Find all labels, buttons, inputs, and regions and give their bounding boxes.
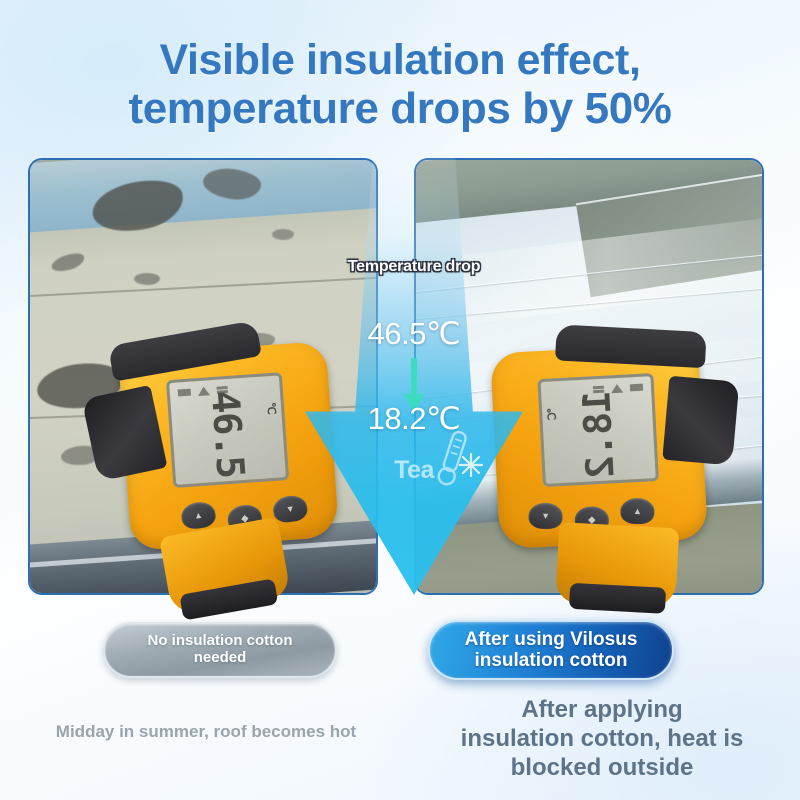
roof-stain xyxy=(88,173,188,239)
thermometer-sensor-nose xyxy=(662,376,739,466)
roof-stain xyxy=(272,229,294,240)
thermometer-button-mode[interactable]: ▲ xyxy=(620,498,654,525)
right-caption-line-2: insulation cotton, heat is xyxy=(404,725,800,754)
right-pill-line-2: insulation cotton xyxy=(465,650,638,671)
thermometer-lcd-screen-right: 18.2 ℃ xyxy=(537,373,658,487)
page-title: Visible insulation effect, temperature d… xyxy=(0,36,800,133)
infrared-thermometer-right: 18.2 ℃ ▲ ◆ ▼ xyxy=(463,323,737,606)
roof-stain xyxy=(49,250,86,275)
lcd-battery-icon xyxy=(178,389,191,397)
roof-stain xyxy=(202,166,263,202)
roof-seam xyxy=(28,275,378,297)
left-pill-line-2: needed xyxy=(148,650,293,667)
right-pill-line-1: After using Vilosus xyxy=(465,629,638,650)
left-pill-line-1: No insulation cotton xyxy=(148,633,293,650)
page-title-line-2: temperature drops by 50% xyxy=(0,84,800,133)
lcd-unit-left: ℃ xyxy=(264,402,278,415)
lcd-temperature-reading-left: 46.5 xyxy=(203,389,253,479)
right-caption-line-3: blocked outside xyxy=(404,754,800,783)
right-caption: After applying insulation cotton, heat i… xyxy=(404,696,800,782)
right-caption-line-1: After applying xyxy=(404,696,800,725)
lcd-unit-right: ℃ xyxy=(546,407,560,420)
thermometer-lcd-screen-left: 46.5 ℃ xyxy=(166,372,289,488)
lcd-battery-icon xyxy=(630,384,643,392)
thermometer-button-unit[interactable]: ▼ xyxy=(528,503,562,530)
infrared-thermometer-left: 46.5 ℃ ▲ ◆ ▼ xyxy=(91,321,369,608)
right-status-pill[interactable]: After using Vilosus insulation cotton xyxy=(428,620,674,680)
thermometer-grip xyxy=(555,522,679,608)
left-status-pill[interactable]: No insulation cotton needed xyxy=(103,622,337,678)
lcd-temperature-reading-right: 18.2 xyxy=(574,389,623,479)
roof-stain xyxy=(134,273,160,285)
page-title-line-1: Visible insulation effect, xyxy=(0,36,800,84)
left-caption: Midday in summer, roof becomes hot xyxy=(0,722,412,742)
